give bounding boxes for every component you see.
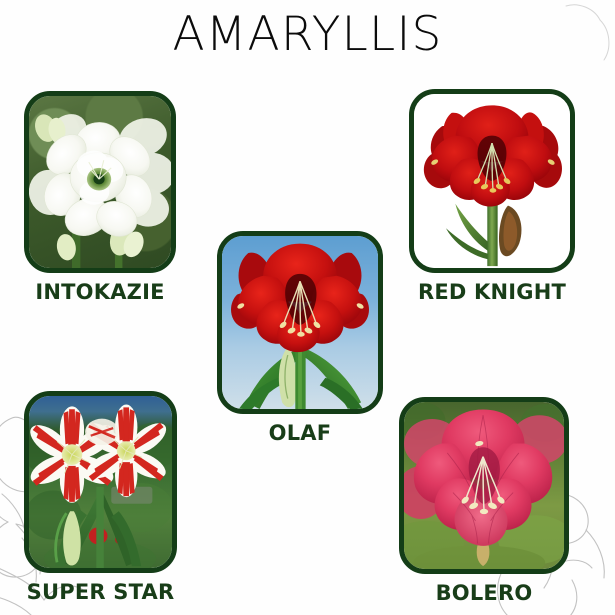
- flower-photo-olaf: [222, 236, 378, 409]
- flower-card-bolero[interactable]: BOLERO: [399, 397, 569, 605]
- flower-photo-red-knight: [414, 94, 570, 268]
- super-star-amaryllis-artwork: [29, 396, 172, 568]
- amaryllis-poster: AMARYLLIS: [0, 0, 615, 615]
- card-frame: [399, 397, 569, 574]
- flower-photo-bolero: [404, 402, 564, 569]
- flower-photo-super-star: [29, 396, 172, 568]
- olaf-amaryllis-artwork: [222, 236, 378, 409]
- flower-card-red-knight[interactable]: RED KNIGHT: [409, 89, 575, 304]
- flower-card-intokazie[interactable]: INTOKAZIE: [24, 91, 176, 304]
- flower-card-label: RED KNIGHT: [409, 280, 575, 304]
- flower-card-label: BOLERO: [399, 581, 569, 605]
- flower-card-label: SUPER STAR: [24, 580, 177, 604]
- page-title: AMARYLLIS: [0, 8, 615, 62]
- flower-card-super-star[interactable]: SUPER STAR: [24, 391, 177, 604]
- card-frame: [217, 231, 383, 414]
- flower-card-label: INTOKAZIE: [24, 280, 176, 304]
- flower-card-olaf[interactable]: OLAF: [217, 231, 383, 445]
- card-frame: [24, 391, 177, 573]
- card-frame: [409, 89, 575, 273]
- flower-card-label: OLAF: [217, 421, 383, 445]
- red-amaryllis-artwork: [414, 94, 570, 268]
- bolero-amaryllis-artwork: [404, 402, 564, 569]
- card-frame: [24, 91, 176, 273]
- flower-photo-intokazie: [29, 96, 171, 268]
- white-amaryllis-artwork: [29, 96, 171, 268]
